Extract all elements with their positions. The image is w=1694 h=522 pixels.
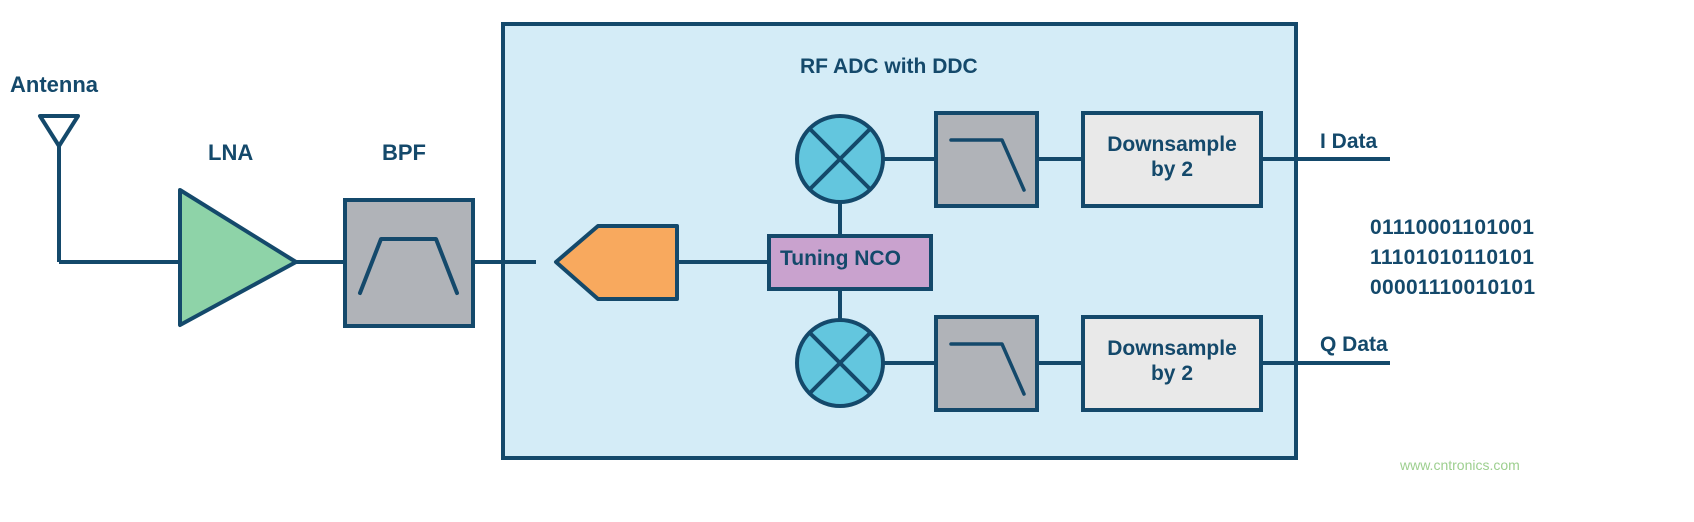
lpf-i-block: [936, 113, 1037, 206]
diagram-canvas: Antenna LNA BPF RF ADC with DDC Tuning N…: [0, 0, 1694, 522]
bpf-label: BPF: [382, 140, 426, 166]
tuning-nco-label: Tuning NCO: [780, 247, 901, 272]
lna-amplifier-shape: [180, 190, 296, 325]
mixer-i-icon: [797, 116, 883, 202]
antenna-label: Antenna: [10, 72, 98, 98]
lpf-q-block: [936, 317, 1037, 410]
antenna-icon: [40, 116, 78, 262]
bpf-block: [345, 200, 473, 326]
downsample-i-label: Downsample by 2: [1098, 133, 1246, 183]
mixer-q-icon: [797, 320, 883, 406]
bitstream-text: 01110001101001 11101010110101 0000111001…: [1370, 213, 1535, 302]
q-data-label: Q Data: [1320, 333, 1388, 358]
rf-adc-ddc-title: RF ADC with DDC: [800, 55, 978, 80]
watermark-text: www.cntronics.com: [1400, 457, 1520, 473]
downsample-q-label: Downsample by 2: [1098, 337, 1246, 387]
i-data-label: I Data: [1320, 130, 1377, 155]
lna-label: LNA: [208, 140, 253, 166]
